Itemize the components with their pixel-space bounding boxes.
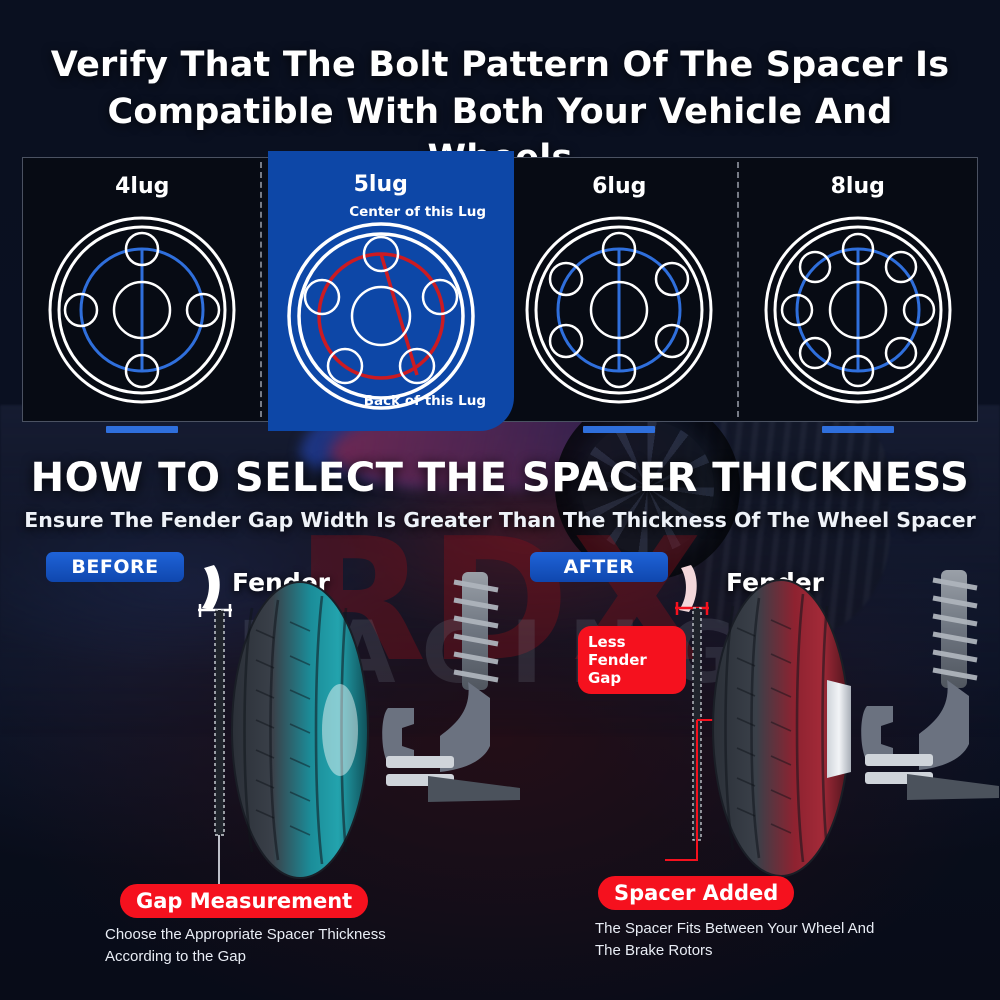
badge-before: BEFORE bbox=[46, 552, 184, 582]
wheel-spacer bbox=[827, 680, 851, 778]
bolt-pattern-label-4lug: 4lug bbox=[23, 174, 262, 199]
bolt-pattern-label-5lug: 5lug bbox=[262, 172, 501, 197]
wheel-diagram-4lug bbox=[42, 210, 242, 410]
bolt-pattern-cell-5lug[interactable]: 5lug Center of this Lug Back of this Lug bbox=[262, 158, 501, 421]
bolt-pattern-underline-4lug bbox=[106, 426, 178, 433]
wheel-diagram-5lug bbox=[281, 216, 481, 416]
page-title-line1: Verify That The Bolt Pattern Of The Spac… bbox=[50, 42, 950, 89]
wheel-diagram-6lug bbox=[519, 210, 719, 410]
badge-gap-measurement: Gap Measurement bbox=[120, 884, 368, 918]
badge-less-fender-gap: Less Fender Gap bbox=[578, 626, 686, 694]
bolt-pattern-underline-6lug bbox=[583, 426, 655, 433]
illustration-after bbox=[655, 560, 1000, 890]
suspension-strut-before bbox=[440, 572, 498, 772]
bolt-pattern-cell-8lug[interactable]: 8lug bbox=[739, 158, 978, 421]
fender-shape-before bbox=[202, 565, 220, 610]
section-heading: HOW TO SELECT THE SPACER THICKNESS bbox=[0, 455, 1000, 501]
bolt-pattern-cell-4lug[interactable]: 4lug bbox=[23, 158, 262, 421]
bolt-pattern-cell-6lug[interactable]: 6lug bbox=[500, 158, 739, 421]
bolt-pattern-underline-8lug bbox=[822, 426, 894, 433]
wheel-diagram-8lug bbox=[758, 210, 958, 410]
infographic-root: RDX RACING Verify That The Bolt Pattern … bbox=[0, 0, 1000, 1000]
caption-before: Choose the Appropriate Spacer Thickness … bbox=[105, 924, 386, 968]
caption-after: The Spacer Fits Between Your Wheel And T… bbox=[595, 918, 874, 962]
fender-shape-after bbox=[679, 565, 697, 612]
control-arm-after bbox=[907, 774, 999, 800]
section-subheading: Ensure The Fender Gap Width Is Greater T… bbox=[0, 508, 1000, 532]
badge-spacer-added: Spacer Added bbox=[598, 876, 794, 910]
suspension-strut-after bbox=[919, 570, 977, 770]
control-arm-before bbox=[428, 776, 520, 802]
bolt-pattern-label-6lug: 6lug bbox=[500, 174, 739, 199]
gap-measure-scale bbox=[215, 610, 224, 835]
bolt-pattern-strip: 4lug 5lug Center of this Lug Back of thi… bbox=[22, 157, 978, 422]
illustration-before bbox=[190, 560, 570, 890]
bolt-pattern-label-8lug: 8lug bbox=[739, 174, 978, 199]
